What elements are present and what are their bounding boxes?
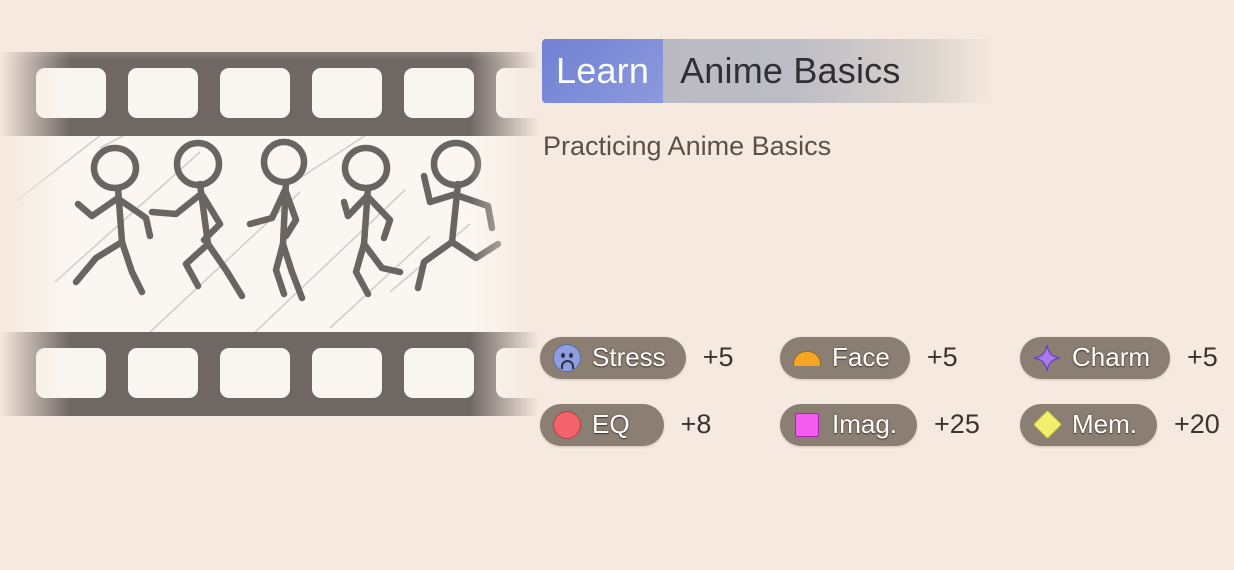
stat-label: Imag. [832,409,897,440]
activity-subtitle: Practicing Anime Basics [543,131,831,162]
stat-stress: Stress +5 [540,337,780,379]
stat-pill: Charm [1020,337,1170,379]
stick-figure-run-cycle [0,132,540,336]
stat-eq: EQ +8 [540,404,780,446]
category-tag-learn: Learn [542,39,663,103]
page-title: Anime Basics [663,39,994,103]
stat-label: Stress [592,342,666,373]
stat-imagination: Imag. +25 [780,404,1020,446]
sprocket-hole [404,68,474,118]
sprocket-hole [312,348,382,398]
film-frame [0,132,540,336]
stat-face: Face +5 [780,337,1020,379]
sprocket-hole [36,68,106,118]
activity-illustration [0,0,540,570]
stat-delta: +5 [927,342,958,373]
sprocket-row-bottom [0,348,540,398]
stick-figure [76,148,150,292]
stat-pill: EQ [540,404,664,446]
stat-delta: +20 [1174,409,1220,440]
stat-row: Stress +5 Face +5 Charm [540,324,1234,391]
stat-delta: +5 [1187,342,1218,373]
sad-face-icon [553,344,581,372]
stat-label: Mem. [1072,409,1137,440]
diamond-icon [1033,411,1061,439]
sprocket-hole [36,348,106,398]
stat-delta: +5 [703,342,734,373]
stick-figure [152,143,242,296]
square-icon [793,411,821,439]
sprocket-hole [496,68,540,118]
sprocket-hole [496,348,540,398]
stat-pill: Imag. [780,404,917,446]
stat-label: Face [832,342,890,373]
dome-icon [793,344,821,372]
stat-pill: Mem. [1020,404,1157,446]
stat-pill: Face [780,337,910,379]
activity-details-panel: Learn Anime Basics Practicing Anime Basi… [540,0,1234,570]
stat-delta: +8 [681,409,712,440]
stat-memory: Mem. +20 [1020,404,1234,446]
sprocket-hole [128,68,198,118]
stick-figure [250,142,304,298]
sprocket-hole [128,348,198,398]
activity-title-bar: Learn Anime Basics [542,39,994,103]
sprocket-hole [220,68,290,118]
stat-label: EQ [592,409,630,440]
sprocket-hole [312,68,382,118]
stat-charm: Charm +5 [1020,337,1234,379]
stat-label: Charm [1072,342,1150,373]
stat-rewards-grid: Stress +5 Face +5 Charm [540,324,1234,458]
stick-figure [344,148,400,294]
sprocket-hole [404,348,474,398]
sprocket-hole [220,348,290,398]
circle-icon [553,411,581,439]
stat-delta: +25 [934,409,980,440]
stat-row: EQ +8 Imag. +25 Mem. [540,391,1234,458]
stat-pill: Stress [540,337,686,379]
sparkle-icon [1033,344,1061,372]
stick-figure [418,143,498,288]
sprocket-row-top [0,68,540,118]
